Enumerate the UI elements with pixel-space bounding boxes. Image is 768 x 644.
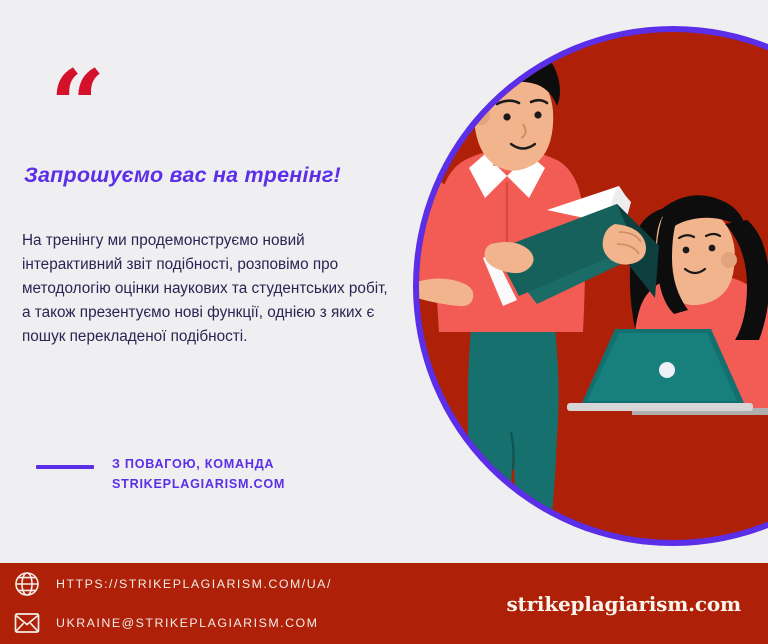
signature-dash [36, 465, 94, 469]
footer-contacts: HTTPS://STRIKEPLAGIARISM.COM/UA/ UKRAINE… [0, 569, 332, 638]
circle-fill [419, 32, 768, 540]
brand-logo[interactable]: strikeplagiarism.com [507, 592, 768, 616]
footer-website-row[interactable]: HTTPS://STRIKEPLAGIARISM.COM/UA/ [12, 569, 332, 599]
footer-website-text: HTTPS://STRIKEPLAGIARISM.COM/UA/ [56, 577, 332, 591]
signature-line-2: STRIKEPLAGIARISM.COM [112, 475, 285, 495]
signature-text: З ПОВАГОЮ, КОМАНДА STRIKEPLAGIARISM.COM [112, 455, 285, 494]
quote-mark-icon: “ [50, 58, 103, 154]
page-title: Запрошуємо вас на тренінг! [24, 163, 404, 188]
footer-email-row[interactable]: UKRAINE@STRIKEPLAGIARISM.COM [12, 608, 332, 638]
students-illustration-svg [419, 32, 768, 540]
signature-block: З ПОВАГОЮ, КОМАНДА STRIKEPLAGIARISM.COM [36, 455, 285, 494]
footer-email-text: UKRAINE@STRIKEPLAGIARISM.COM [56, 616, 319, 630]
envelope-icon [12, 608, 42, 638]
body-text: На тренінгу ми продемонструємо новий інт… [22, 229, 394, 349]
poster-canvas: “ Запрошуємо вас на тренінг! На тренінгу… [0, 0, 768, 644]
footer-bar: HTTPS://STRIKEPLAGIARISM.COM/UA/ UKRAINE… [0, 563, 768, 644]
signature-line-1: З ПОВАГОЮ, КОМАНДА [112, 455, 285, 475]
illustration-circle [413, 26, 768, 546]
globe-icon [12, 569, 42, 599]
